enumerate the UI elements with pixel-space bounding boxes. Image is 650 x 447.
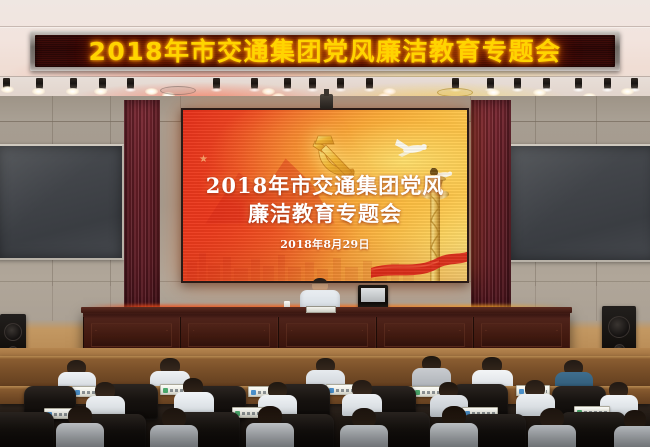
projection-screen: ★	[181, 108, 469, 283]
screen-title: 2018年市交通集团党风 廉洁教育专题会	[183, 172, 467, 227]
ceiling-projector	[320, 94, 333, 109]
screen-title-line2: 廉洁教育专题会	[183, 200, 467, 228]
screen-date: 2018年8月29日	[183, 236, 467, 252]
left-stage-curtain	[124, 100, 160, 318]
led-banner-screen: 2018年市交通集团党风廉洁教育专题会	[35, 35, 615, 67]
right-display-panel	[508, 144, 650, 262]
led-banner-text: 2018年市交通集团党风廉洁教育专题会	[88, 39, 561, 64]
led-banner-frame: 2018年市交通集团党风廉洁教育专题会	[30, 31, 620, 71]
screen-title-line1: 2018年市交通集团党风	[206, 173, 444, 198]
right-stage-curtain	[471, 100, 511, 318]
left-display-panel	[0, 144, 124, 260]
projector-mount	[324, 89, 329, 96]
conference-hall-scene: 2018年市交通集团党风廉洁教育专题会	[0, 0, 650, 447]
presenter-nameplate	[306, 306, 336, 313]
ceiling-vent-left	[160, 86, 196, 95]
